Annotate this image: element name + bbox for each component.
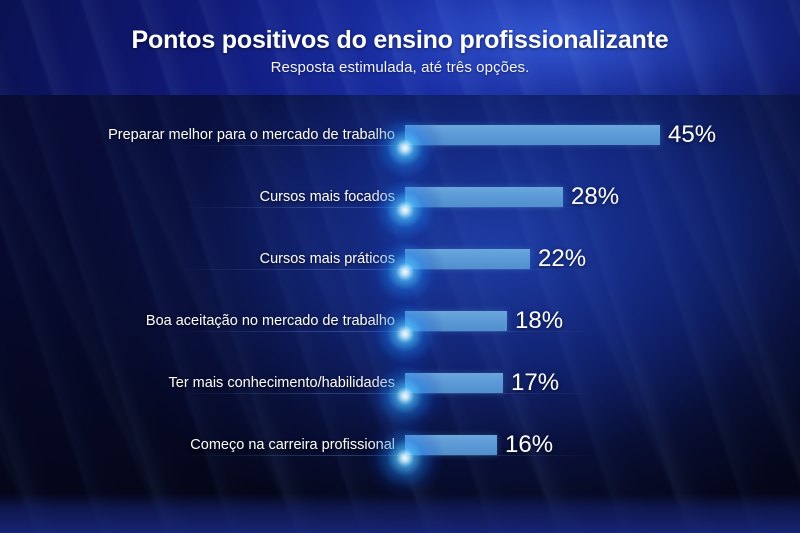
bar-category-label: Preparar melhor para o mercado de trabal… [15, 127, 405, 143]
page-title: Pontos positivos do ensino profissionali… [0, 26, 800, 55]
header-band: Pontos positivos do ensino profissionali… [0, 0, 800, 95]
bar-origin-glow-icon [367, 420, 443, 496]
bar-container: Preparar melhor para o mercado de trabal… [405, 124, 716, 146]
bar-row: Começo na carreira profissional16% [0, 423, 800, 467]
bar-value-label: 22% [538, 247, 586, 271]
bar-container: Boa aceitação no mercado de trabalho18% [405, 310, 563, 332]
header-content: Pontos positivos do ensino profissionali… [0, 0, 800, 76]
bar [405, 311, 507, 331]
bar-category-label: Cursos mais práticos [15, 251, 405, 267]
bar-row: Boa aceitação no mercado de trabalho18% [0, 299, 800, 343]
bar-row: Cursos mais práticos22% [0, 237, 800, 281]
bar-value-label: 16% [505, 433, 553, 457]
bar-container: Cursos mais práticos22% [405, 248, 586, 270]
bar-row: Ter mais conhecimento/habilidades17% [0, 361, 800, 405]
bar [405, 125, 660, 145]
bar-category-label: Cursos mais focados [15, 189, 405, 205]
bar-container: Começo na carreira profissional16% [405, 434, 553, 456]
bar-value-label: 17% [511, 371, 559, 395]
bar-value-label: 45% [668, 123, 716, 147]
bar [405, 187, 563, 207]
bar-category-label: Ter mais conhecimento/habilidades [15, 375, 405, 391]
bar [405, 435, 497, 455]
bar [405, 249, 530, 269]
bar-category-label: Boa aceitação no mercado de trabalho [15, 313, 405, 329]
bar-container: Cursos mais focados28% [405, 186, 619, 208]
bar-category-label: Começo na carreira profissional [15, 437, 405, 453]
bar [405, 373, 503, 393]
bar-value-label: 28% [571, 185, 619, 209]
bar-row: Preparar melhor para o mercado de trabal… [0, 113, 800, 157]
page-subtitle: Resposta estimulada, até três opções. [0, 59, 800, 76]
infographic-root: Pontos positivos do ensino profissionali… [0, 0, 800, 533]
bar-value-label: 18% [515, 309, 563, 333]
chart-plot-area: Preparar melhor para o mercado de trabal… [0, 95, 800, 533]
bar-row: Cursos mais focados28% [0, 175, 800, 219]
bar-container: Ter mais conhecimento/habilidades17% [405, 372, 559, 394]
